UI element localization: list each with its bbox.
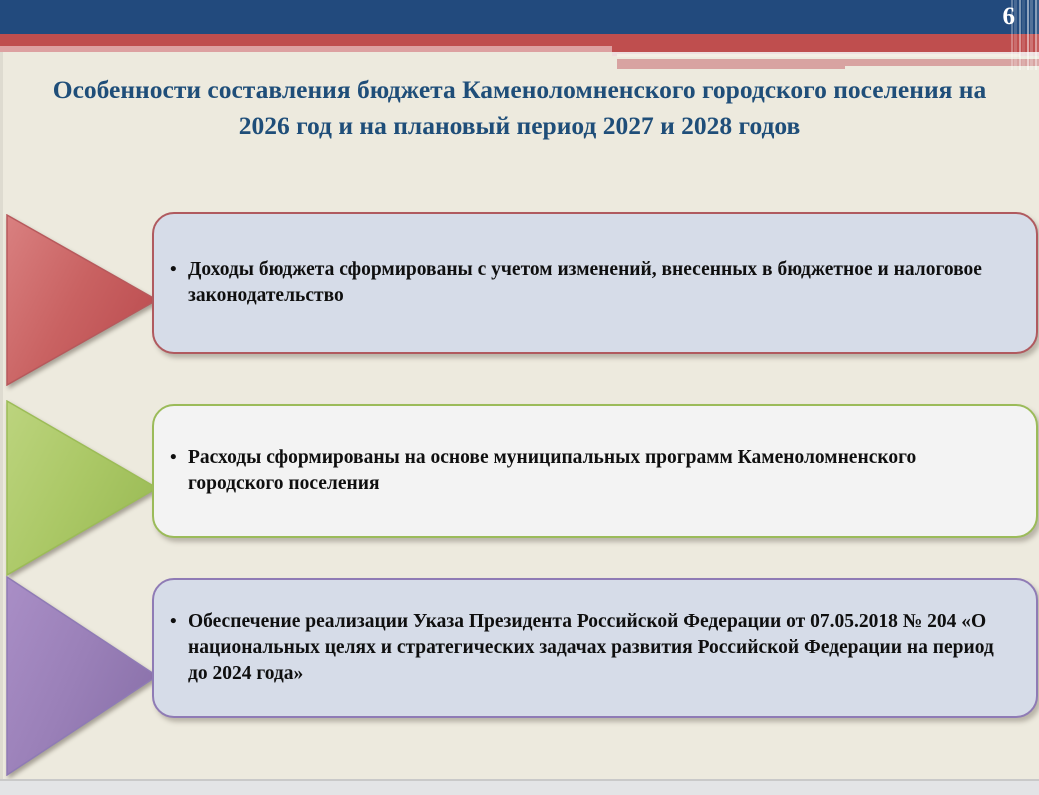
slide-bottom-shadow (0, 779, 1039, 781)
header-pink-notch (845, 66, 1039, 70)
bullet-text-1: Доходы бюджета сформированы с учетом изм… (188, 257, 1012, 309)
app-background-strip (0, 782, 1039, 795)
slide-number: 6 (1003, 2, 1016, 32)
bullet-item-2: • Расходы сформированы на основе муницип… (170, 445, 1012, 497)
slide-left-edge (0, 0, 3, 781)
bullet-text-3: Обеспечение реализации Указа Президента … (188, 609, 1012, 687)
bullet-text-2: Расходы сформированы на основе муниципал… (188, 445, 1012, 497)
bullet-marker: • (170, 445, 188, 471)
slide-title: Особенности составления бюджета Каменоло… (52, 72, 987, 144)
header-pink-band-left (0, 46, 612, 52)
header-red-band (0, 34, 1039, 46)
header-highlight-line (617, 54, 1020, 57)
slide-canvas: 6 Особенности составления бюджета Камено… (0, 0, 1039, 781)
content-box-3[interactable]: • Обеспечение реализации Указа Президент… (152, 578, 1038, 718)
content-box-1[interactable]: • Доходы бюджета сформированы с учетом и… (152, 212, 1038, 354)
bullet-marker: • (170, 257, 188, 283)
arrow-triangle-purple-icon (6, 576, 156, 776)
arrow-triangle-red-icon (6, 214, 156, 386)
bullet-item-1: • Доходы бюджета сформированы с учетом и… (170, 257, 1012, 309)
content-box-2[interactable]: • Расходы сформированы на основе муницип… (152, 404, 1038, 538)
arrow-triangle-green-icon (6, 400, 156, 576)
header-stripe-decoration (1011, 0, 1039, 70)
bullet-item-3: • Обеспечение реализации Указа Президент… (170, 609, 1012, 687)
header-blue-band (0, 0, 1039, 34)
bullet-marker: • (170, 609, 188, 635)
